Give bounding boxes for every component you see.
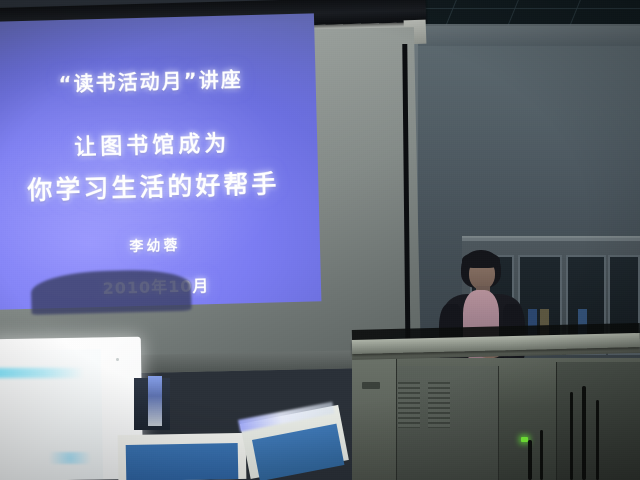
crt-screen-glow	[0, 368, 84, 378]
secondary-monitor-edge	[148, 376, 162, 426]
slide-text-block: “读书活动月”讲座 让图书馆成为 你学习生活的好帮手 李幼蓉 2010年10月	[0, 13, 321, 310]
cable	[570, 392, 573, 480]
cable	[528, 440, 532, 480]
slide-heading-line1: 让图书馆成为	[0, 123, 318, 164]
cable	[582, 386, 586, 480]
slide-heading-line2: 你学习生活的好帮手	[0, 163, 319, 208]
console-vent	[428, 382, 450, 428]
presenter-fringe	[462, 252, 500, 268]
cable	[596, 400, 599, 480]
power-led-indicator	[521, 437, 528, 442]
photo-scene: “读书活动月”讲座 让图书馆成为 你学习生活的好帮手 李幼蓉 2010年10月	[0, 0, 640, 480]
crt-indicator-dot	[116, 358, 119, 361]
projected-slide: “读书活动月”讲座 让图书馆成为 你学习生活的好帮手 李幼蓉 2010年10月	[0, 13, 321, 310]
desk-partition-fabric	[126, 443, 239, 480]
crt-screen-glow	[40, 452, 100, 464]
wall-soffit	[400, 24, 640, 46]
slide-title: “读书活动月”讲座	[0, 61, 316, 99]
console-drive-slot	[362, 382, 380, 389]
cable	[540, 430, 543, 480]
console-vent	[398, 382, 420, 428]
console-side-tower	[352, 358, 397, 480]
slide-presenter: 李幼蓉	[0, 231, 320, 260]
